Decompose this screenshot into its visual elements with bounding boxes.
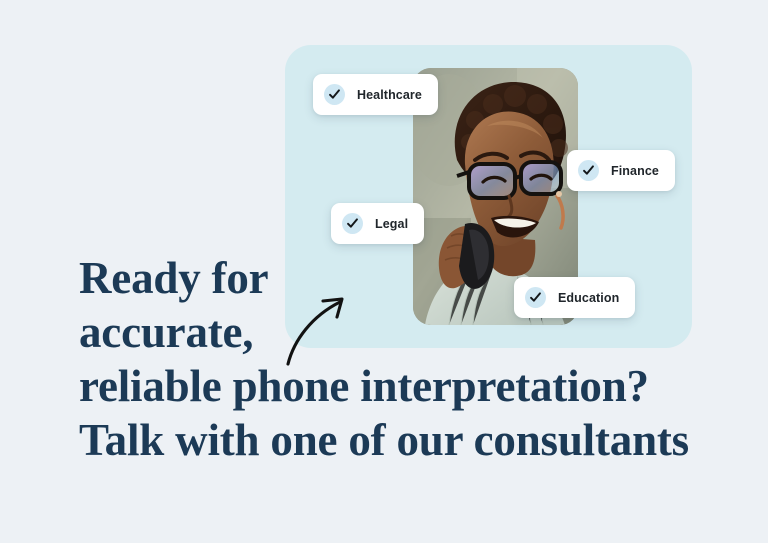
headline-line-4: Talk with one of our consultants <box>79 413 689 467</box>
promo-banner: Healthcare Finance Legal Education <box>0 0 768 543</box>
badge-healthcare[interactable]: Healthcare <box>313 74 438 115</box>
headline-line-1: Ready for <box>79 251 268 305</box>
badge-label: Healthcare <box>357 88 422 102</box>
check-icon <box>578 160 599 181</box>
badge-finance[interactable]: Finance <box>567 150 675 191</box>
check-icon <box>324 84 345 105</box>
headline-line-2: accurate, <box>79 305 253 359</box>
headline-line-3: reliable phone interpretation? <box>79 359 649 413</box>
badge-label: Finance <box>611 164 659 178</box>
badge-label: Legal <box>375 217 408 231</box>
check-icon <box>342 213 363 234</box>
badge-legal[interactable]: Legal <box>331 203 424 244</box>
page-title: Ready for accurate, reliable phone inter… <box>79 251 699 521</box>
